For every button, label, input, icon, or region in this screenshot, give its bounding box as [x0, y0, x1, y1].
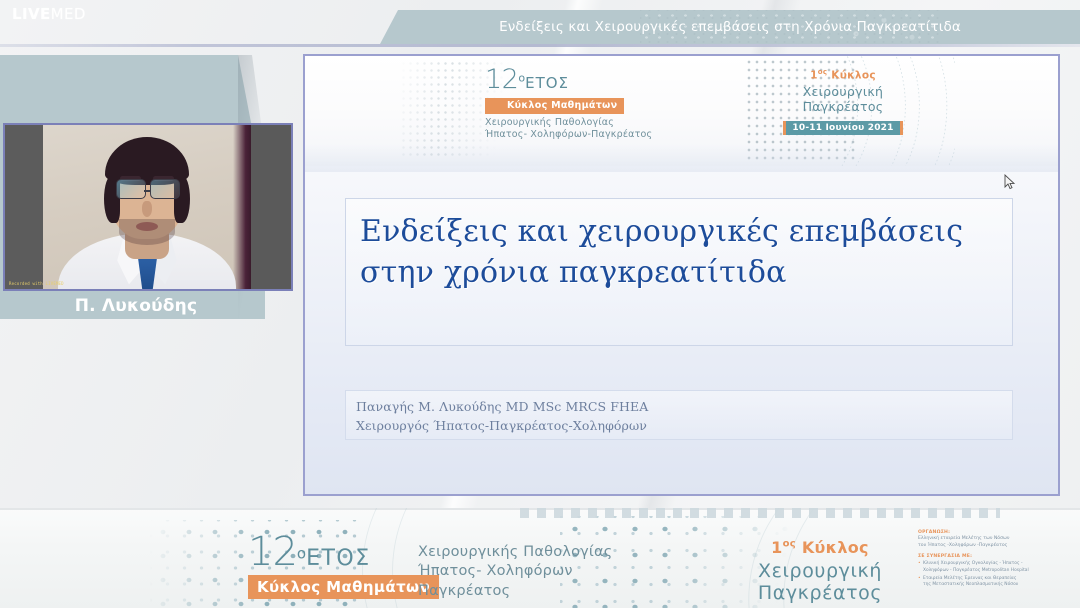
- slide-logo-sub-line1: Χειρουργικής Παθολογίας: [485, 117, 685, 130]
- footer-org-line1: Ελληνική εταιρεία Μελέτης των Νόσων: [918, 536, 1076, 543]
- footer-sub-line1: Χειρουργικής Παθολογίας: [418, 543, 613, 562]
- slide-logo-first-cycle: 1ος Κύκλος Χειρουργική Παγκρέατος 10-11 …: [743, 68, 943, 135]
- livemed-logo-bold: LIVE: [12, 5, 51, 23]
- video-scene: [43, 125, 251, 289]
- footer-dashed-strip: [520, 508, 1000, 518]
- slide-cycle-line2: Παγκρέατος: [743, 99, 943, 115]
- slide-cycle-number: 1: [810, 70, 818, 82]
- footer-cycle-number: 1: [771, 538, 782, 557]
- footer-logo-12th-year: 12οΕΤΟΣ Κύκλος Μαθημάτων: [248, 532, 439, 599]
- speaker-glasses-bridge: [144, 190, 150, 192]
- footer-organizers-block: ΟΡΓΑΝΩΣΗ: Ελληνική εταιρεία Μελέτης των …: [918, 530, 1076, 589]
- slide-logo-sub-line2: Ήπατος- Χοληφόρων-Παγκρέατος: [485, 129, 685, 142]
- slide-author-box: Παναγής Μ. Λυκούδης MD MSc MRCS FHEA Χει…: [345, 390, 1013, 440]
- livemed-logo[interactable]: LIVEMED: [12, 7, 86, 22]
- footer-cycle-title: Χειρουργική Παγκρέατος: [700, 560, 940, 604]
- header-underline: [0, 44, 1080, 47]
- footer-logo-ordinal: ο: [297, 545, 306, 563]
- speaker-nose: [142, 201, 152, 217]
- slide-logo-12th-year: 12οΕΤΟΣ Κύκλος Μαθημάτων Χειρουργικής Πα…: [485, 66, 685, 144]
- video-dark-edge: [233, 125, 251, 289]
- slide-logo-etos: ΕΤΟΣ: [525, 74, 569, 92]
- slide-logo-course-band: Κύκλος Μαθημάτων: [485, 98, 624, 114]
- header-title: Ενδείξεις και Χειρουργικές επεμβάσεις στ…: [380, 10, 1080, 44]
- footer-org-line2: του Ήπατος -Χοληφόρων -Παγκρέατος: [918, 543, 1076, 550]
- speaker-video-feed[interactable]: Recorded with LIVEMED: [3, 123, 293, 291]
- speaker-glasses-left-lens: [116, 179, 146, 199]
- video-letterbox-right: [251, 125, 291, 289]
- footer-partner1-line2: Χοληφόρων - Παγκρέατος Metropolitan Hosp…: [923, 568, 1076, 574]
- footer-logo-subtitle: Χειρουργικής Παθολογίας Ήπατος- Χοληφόρω…: [418, 543, 613, 601]
- slide-logo-number: 12: [485, 64, 518, 95]
- footer-partner-item: Εταιρεία Μελέτης Έρευνας και Θεραπείας τ…: [918, 576, 1076, 589]
- footer-cycle-word: Κύκλος: [802, 538, 869, 557]
- slide-author-name: Παναγής Μ. Λυκούδης MD MSc MRCS FHEA: [356, 398, 1012, 417]
- slide-cycle-word: Κύκλος: [831, 70, 876, 82]
- slide-strip-reflection: [305, 144, 1058, 172]
- footer-partner-item: Κλινική Χειρουργικής Ογκολογίας - Ήπατος…: [918, 561, 1076, 574]
- footer-partner2-line2: της Μεταστατικής Νεοπλασματικής Νόσου: [923, 582, 1076, 588]
- footer-sub-line3: Παγκρέατος: [418, 582, 613, 601]
- footer-logo-number: 12: [248, 529, 297, 575]
- footer-logo-etos: ΕΤΟΣ: [306, 546, 371, 571]
- speaker-glasses-right-lens: [150, 179, 180, 199]
- video-letterbox-left: [5, 125, 43, 289]
- slide-area[interactable]: 12οΕΤΟΣ Κύκλος Μαθημάτων Χειρουργικής Πα…: [303, 54, 1060, 496]
- slide-cycle-line1: Χειρουργική: [743, 84, 943, 100]
- footer-logo-first-cycle: 1ος Κύκλος Χειρουργική Παγκρέατος 10-11 …: [700, 538, 940, 608]
- livemed-logo-light: MED: [51, 5, 86, 23]
- presentation-viewer: LIVEMED Ενδείξεις και Χειρουργικές επεμβ…: [0, 0, 1080, 608]
- footer-partners-heading: ΣΕ ΣΥΝΕΡΓΑΣΙΑ ΜΕ:: [918, 554, 1076, 559]
- slide-cycle-date-band: 10-11 Ιουνίου 2021: [783, 121, 902, 135]
- slide-author-role: Χειρουργός Ήπατος-Παγκρέατος-Χοληφόρων: [356, 417, 1012, 436]
- footer-org-heading: ΟΡΓΑΝΩΣΗ:: [918, 530, 1076, 535]
- speaker-mouth: [136, 222, 158, 231]
- footer-sub-line2: Ήπατος- Χοληφόρων: [418, 562, 613, 581]
- slide-title-box: Ενδείξεις και χειρουργικές επεμβάσεις στ…: [345, 198, 1013, 346]
- speaker-hair: [105, 137, 189, 185]
- slide-cycle-sup: ος: [818, 68, 828, 76]
- slide-title: Ενδείξεις και χειρουργικές επεμβάσεις στ…: [360, 211, 998, 294]
- video-watermark: Recorded with LIVEMED: [9, 281, 64, 286]
- footer-cycle-sup: ος: [783, 539, 796, 550]
- speaker-name-label: Π. Λυκούδης: [0, 292, 272, 320]
- footer-logo-course-band: Κύκλος Μαθημάτων: [248, 575, 439, 599]
